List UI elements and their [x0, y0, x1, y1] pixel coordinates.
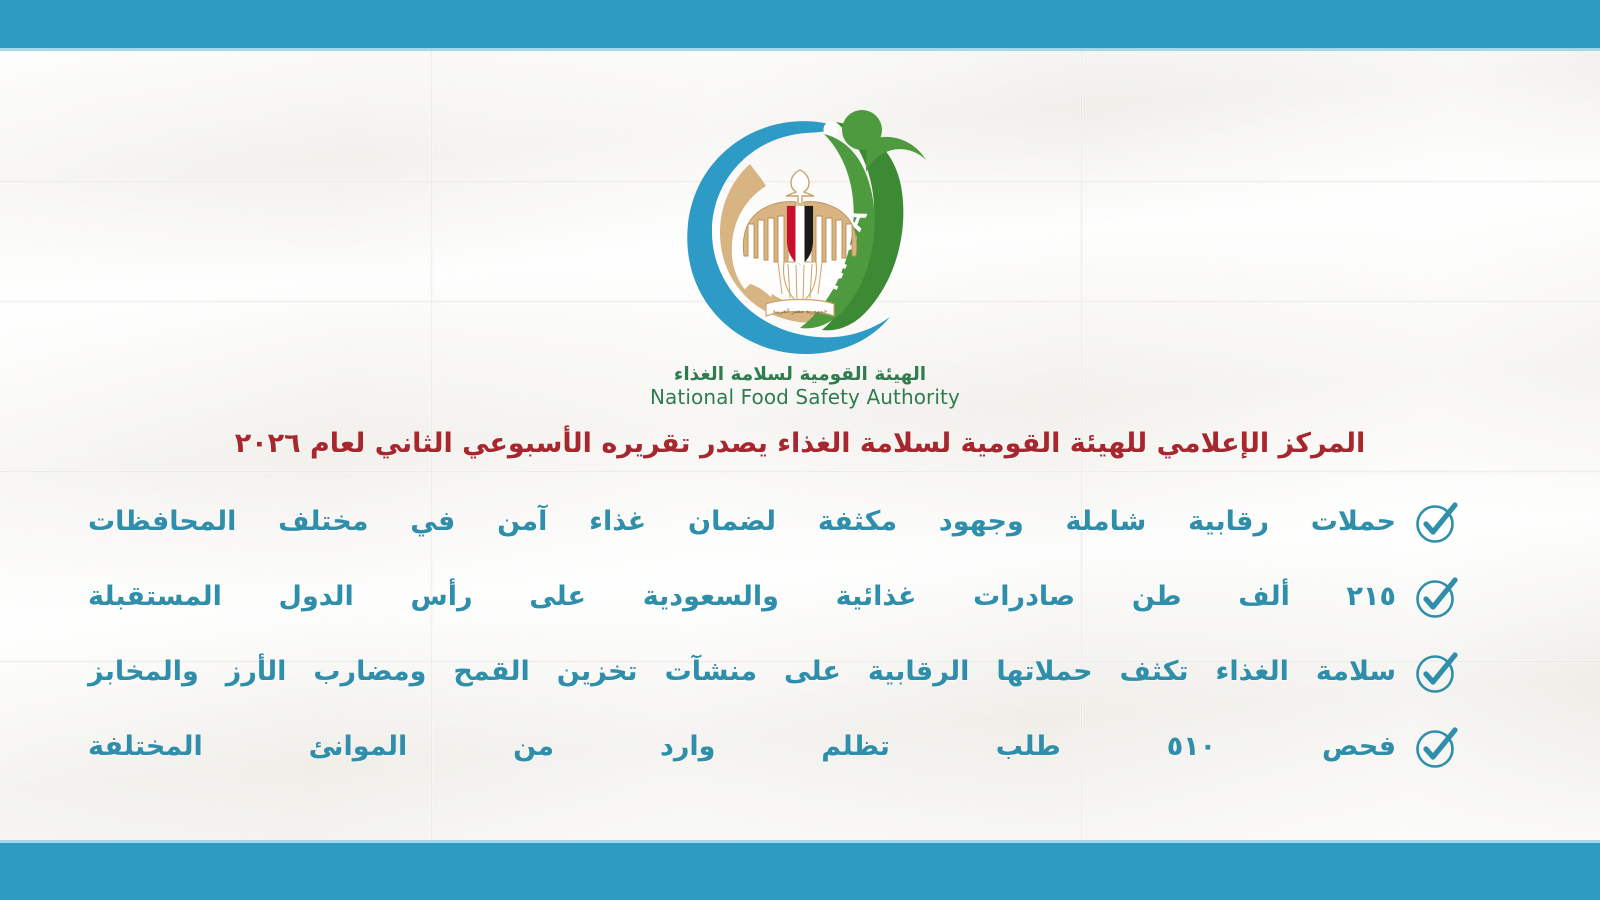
logo-head	[842, 110, 882, 150]
bullet-list: حملات رقابية شاملة وجهود مكثفة لضمان غذا…	[88, 484, 1460, 784]
top-teal-bar	[0, 0, 1600, 48]
list-item-text: ٢١٥ ألف طن صادرات غذائية والسعودية على ر…	[88, 581, 1396, 612]
list-item-text: سلامة الغذاء تكثف حملاتها الرقابية على م…	[88, 656, 1396, 687]
bottom-teal-bar	[0, 843, 1600, 900]
eagle-scroll-text: جمهورية مصر العربية	[773, 308, 828, 315]
list-item: ٢١٥ ألف طن صادرات غذائية والسعودية على ر…	[88, 559, 1460, 634]
nfsa-logo-mark: NFSA جمهورية مصر العربية	[666, 104, 934, 362]
logo-blue-arc-dot	[824, 122, 839, 137]
flag-white-stripe	[796, 206, 805, 264]
check-circle-icon	[1414, 724, 1460, 770]
poster-canvas: NFSA جمهورية مصر العربية	[0, 0, 1600, 900]
logo-english-name: National Food Safety Authority	[650, 385, 950, 409]
check-circle-icon	[1414, 574, 1460, 620]
list-item-text: حملات رقابية شاملة وجهود مكثفة لضمان غذا…	[88, 506, 1396, 537]
list-item: سلامة الغذاء تكثف حملاتها الرقابية على م…	[88, 634, 1460, 709]
page-title: المركز الإعلامي للهيئة القومية لسلامة ال…	[0, 428, 1600, 459]
eagle-head	[786, 170, 814, 204]
logo-block: NFSA جمهورية مصر العربية	[650, 104, 950, 409]
check-circle-icon	[1414, 499, 1460, 545]
list-item: فحص ٥١٠ طلب تظلم وارد من الموانئ المختلف…	[88, 709, 1460, 784]
logo-arabic-name: الهيئة القومية لسلامة الغذاء	[650, 364, 950, 385]
list-item-text: فحص ٥١٠ طلب تظلم وارد من الموانئ المختلف…	[88, 731, 1396, 762]
check-circle-icon	[1414, 649, 1460, 695]
list-item: حملات رقابية شاملة وجهود مكثفة لضمان غذا…	[88, 484, 1460, 559]
